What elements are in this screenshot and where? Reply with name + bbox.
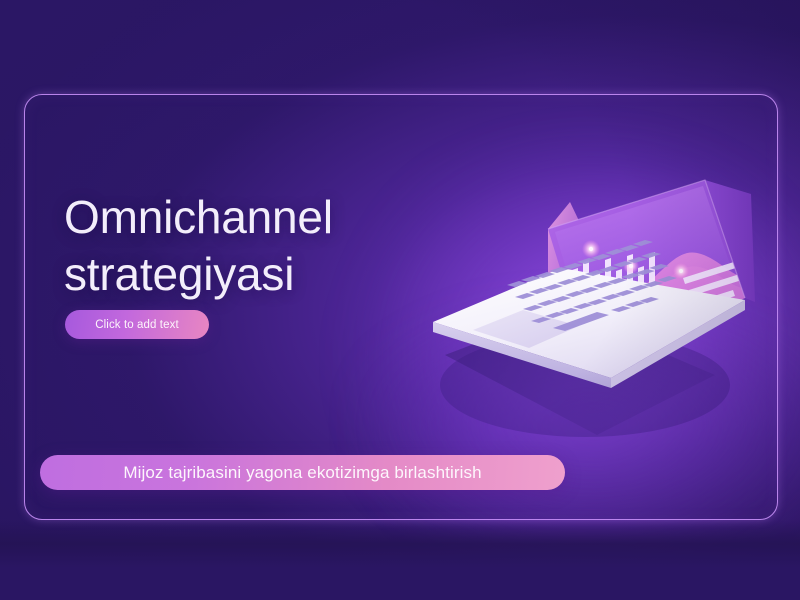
bottom-strip: [0, 520, 800, 600]
subtitle-banner-text: Mijoz tajribasini yagona ekotizimga birl…: [123, 463, 481, 483]
title-line-2: strategiyasi: [64, 246, 484, 303]
presentation-slide: Omnichannel strategiyasi Click to add te…: [0, 0, 800, 600]
title-line-1: Omnichannel: [64, 189, 484, 246]
page-title: Omnichannel strategiyasi: [64, 189, 484, 303]
add-text-placeholder-button[interactable]: Click to add text: [65, 310, 209, 339]
subtitle-banner[interactable]: Mijoz tajribasini yagona ekotizimga birl…: [40, 455, 565, 490]
add-text-placeholder-label: Click to add text: [95, 319, 179, 331]
